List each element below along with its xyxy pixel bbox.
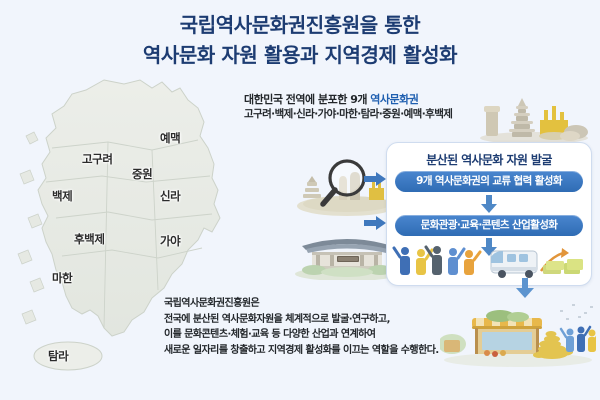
panel-step-2[interactable]: 문화관광·교육·콘텐츠 산업활성화 xyxy=(395,215,583,236)
caption-top-line-2: 고구려·백제·신라·가야·마한·탐라·중원·예맥·후백제 xyxy=(244,107,494,122)
title-line-2: 역사문화 자원 활용과 지역경제 활성화 xyxy=(0,40,600,70)
map-label-tamna: 탐라 xyxy=(48,348,68,364)
market-stall-coins-icon xyxy=(440,296,596,368)
people-bus-money-icon xyxy=(391,239,587,283)
caption-top-highlight: 역사문화권 xyxy=(370,93,418,106)
panel-step-1[interactable]: 9개 역사문화권의 교류 협력 활성화 xyxy=(395,171,583,192)
title-line-1: 국립역사문화권진흥원을 통한 xyxy=(0,10,600,40)
feed-arrow-icon-1 xyxy=(364,172,386,186)
caption-top-pre: 대한민국 전역에 분포한 9개 xyxy=(244,93,370,106)
panel-heading: 분산된 역사문화 자원 발굴 xyxy=(387,151,591,168)
map-label-mahan: 마한 xyxy=(52,270,72,286)
map-label-gaya: 가야 xyxy=(160,233,180,249)
pagoda-crown-relics-icon xyxy=(478,86,590,144)
feed-arrow-icon-2 xyxy=(364,216,386,230)
infographic-canvas: 국립역사문화권진흥원을 통한 역사문화 자원 활용과 지역경제 활성화 xyxy=(0,0,600,400)
caption-bottom-line-2: 전국에 분산된 역사문화자원을 체계적으로 발굴·연구하고, xyxy=(164,312,474,328)
map-label-yemaek: 예맥 xyxy=(160,130,180,146)
value-chain-panel: 분산된 역사문화 자원 발굴 9개 역사문화권의 교류 협력 활성화 문화관광·… xyxy=(386,142,592,286)
caption-bottom-line-4: 새로운 일자리를 창출하고 지역경제 활성화를 이끄는 역할을 수행한다. xyxy=(164,343,474,359)
down-arrow-icon-1 xyxy=(481,195,497,213)
map-label-silla: 신라 xyxy=(160,188,180,204)
map-label-jungwon: 중원 xyxy=(132,166,152,182)
caption-bottom-line-1: 국립역사문화권진흥원은 xyxy=(164,296,474,312)
caption-top-line-1: 대한민국 전역에 분포한 9개 역사문화권 xyxy=(244,92,494,107)
down-arrow-icon-3 xyxy=(516,278,534,298)
map-label-goguryeo: 고구려 xyxy=(82,151,113,167)
caption-bottom-line-3: 이를 문화콘텐츠·체험·교육 등 다양한 산업과 연계하여 xyxy=(164,327,474,343)
map-label-hubaekje: 후백제 xyxy=(74,231,105,247)
page-title: 국립역사문화권진흥원을 통한 역사문화 자원 활용과 지역경제 활성화 xyxy=(0,10,600,70)
map-label-baekje: 백제 xyxy=(52,188,72,204)
caption-bottom: 국립역사문화권진흥원은 전국에 분산된 역사문화자원을 체계적으로 발굴·연구하… xyxy=(164,296,474,358)
map-west-islands xyxy=(18,132,44,324)
caption-top: 대한민국 전역에 분포한 9개 역사문화권 고구려·백제·신라·가야·마한·탐라… xyxy=(244,92,494,122)
